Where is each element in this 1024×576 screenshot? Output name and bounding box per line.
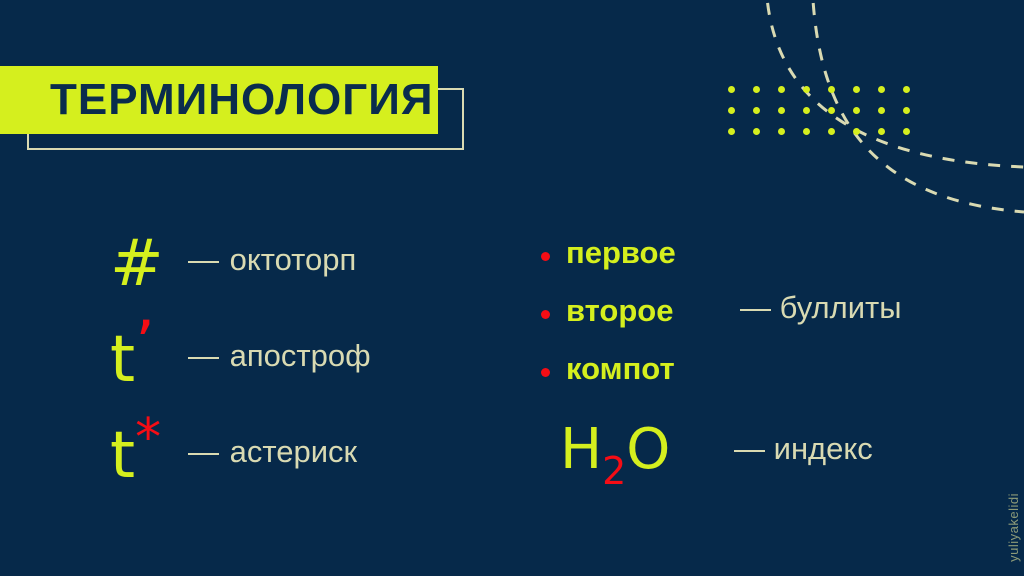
term-row-asterisk: t* — астериск: [110, 414, 490, 510]
formula-base-h: H: [560, 417, 602, 482]
symbols-column: # — октоторп t’ — апостроф t* — астериск: [110, 222, 490, 510]
bullets-column: первое второе компот — буллиты: [536, 230, 956, 404]
formula-h2o: H2O: [560, 415, 670, 485]
bullet-label: первое: [566, 230, 676, 276]
em-dash: —: [188, 242, 221, 277]
bullets-group-description: — буллиты: [740, 290, 902, 326]
slide-canvas: ТЕРМИНОЛОГИЯ # — октоторп t’ — апостроф …: [0, 0, 1024, 576]
bullet-dot-icon: [541, 368, 550, 377]
term-row-octothorpe: # — октоторп: [110, 222, 490, 318]
term-description-apostrophe: — апостроф: [188, 338, 371, 374]
index-example-row: H2O — индекс: [560, 415, 980, 495]
term-label: октоторп: [230, 242, 357, 277]
dot-grid-decoration: [728, 86, 928, 146]
term-description-octothorpe: — октоторп: [188, 242, 356, 278]
formula-subscript-2: 2: [602, 449, 626, 493]
term-description-asterisk: — астериск: [188, 434, 357, 470]
formula-base-o: O: [626, 417, 670, 482]
index-label: индекс: [774, 431, 873, 466]
bullets-group-label: буллиты: [780, 290, 902, 325]
symbol-apostrophe: t’: [110, 318, 155, 402]
bullet-label: компот: [566, 346, 675, 392]
term-row-apostrophe: t’ — апостроф: [110, 318, 490, 414]
em-dash: —: [734, 431, 765, 466]
term-label: апостроф: [230, 338, 371, 373]
apostrophe-glyph: ’: [135, 307, 155, 380]
bullet-dot-icon: [541, 252, 550, 261]
page-title: ТЕРМИНОЛОГИЯ: [50, 66, 433, 134]
author-signature: yuliyakelidi: [1006, 493, 1021, 562]
bullet-dot-icon: [541, 310, 550, 319]
symbol-asterisk: t*: [110, 414, 161, 498]
dashed-arcs-decoration: [724, 0, 1024, 230]
em-dash: —: [188, 338, 221, 373]
term-label: астериск: [230, 434, 357, 469]
index-description: — индекс: [734, 431, 873, 467]
em-dash: —: [740, 290, 771, 325]
bullet-item-3: компот: [536, 346, 956, 404]
asterisk-glyph: *: [135, 408, 161, 468]
symbol-octothorpe: #: [110, 222, 164, 306]
bullet-label: второе: [566, 288, 673, 334]
bullet-item-1: первое: [536, 230, 956, 288]
em-dash: —: [188, 434, 221, 469]
